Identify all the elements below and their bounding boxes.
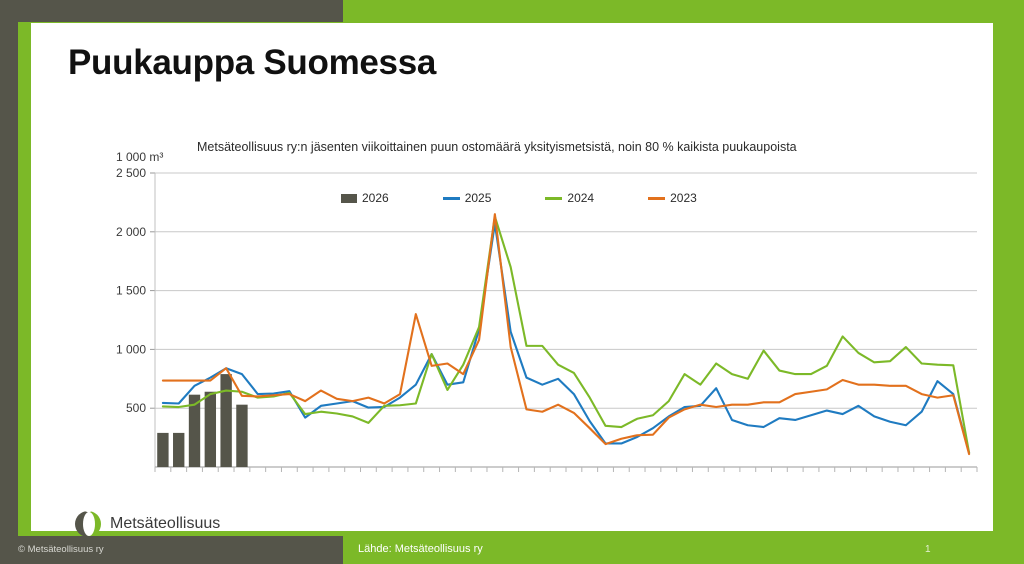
top-accent-bar-dark: [0, 0, 343, 22]
left-accent-bar-dark: [0, 0, 18, 536]
slide-content-card: Puukauppa Suomessa 1 000 m³ Metsäteollis…: [31, 23, 993, 531]
legend-swatch-2025-icon: [443, 197, 460, 200]
legend-swatch-2023-icon: [648, 197, 665, 200]
metsateollisuus-logo-icon: [75, 511, 101, 537]
svg-text:2 500: 2 500: [116, 166, 146, 180]
legend-item-2025[interactable]: 2025: [443, 191, 492, 205]
legend-label-2023: 2023: [670, 191, 697, 205]
svg-text:500: 500: [126, 401, 146, 415]
chart-legend: 2026 2025 2024 2023: [341, 191, 697, 205]
slide-root: Puukauppa Suomessa 1 000 m³ Metsäteollis…: [0, 0, 1024, 564]
legend-item-2026[interactable]: 2026: [341, 191, 389, 205]
legend-item-2023[interactable]: 2023: [648, 191, 697, 205]
legend-item-2024[interactable]: 2024: [545, 191, 594, 205]
legend-label-2026: 2026: [362, 191, 389, 205]
brand-logo-text: Metsäteollisuus: [110, 515, 220, 533]
footer-page-number: 1: [925, 544, 931, 555]
footer-source: Lähde: Metsäteollisuus ry: [358, 543, 483, 555]
legend-swatch-2024-icon: [545, 197, 562, 200]
footer-copyright: © Metsäteollisuus ry: [18, 544, 104, 555]
page-title: Puukauppa Suomessa: [68, 43, 436, 83]
slide-footer: © Metsäteollisuus ry Lähde: Metsäteollis…: [0, 536, 1024, 564]
brand-logo: Metsäteollisuus: [75, 511, 220, 537]
legend-label-2025: 2025: [465, 191, 492, 205]
legend-label-2024: 2024: [567, 191, 594, 205]
svg-text:1 000: 1 000: [116, 342, 146, 356]
svg-text:1 500: 1 500: [116, 284, 146, 298]
legend-swatch-2026-icon: [341, 194, 357, 203]
svg-text:2 000: 2 000: [116, 225, 146, 239]
